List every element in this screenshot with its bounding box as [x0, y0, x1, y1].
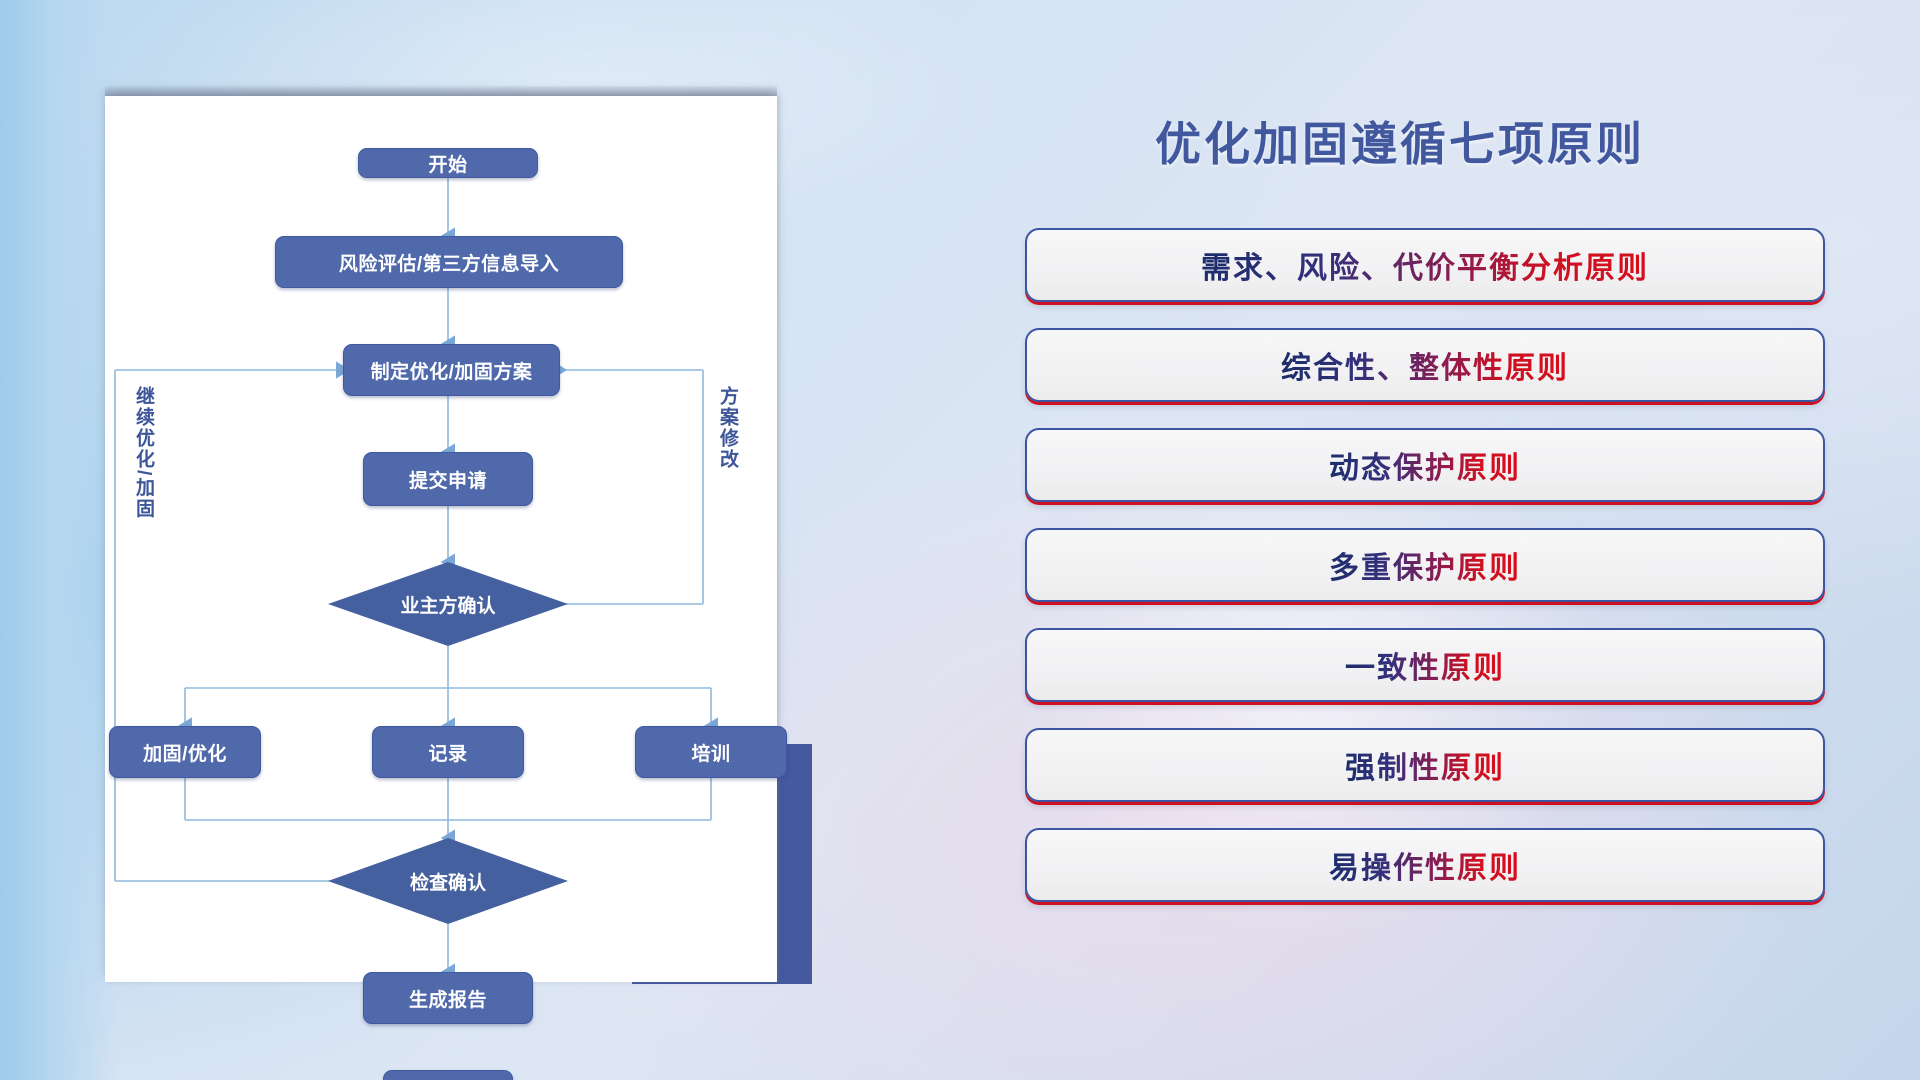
flow-node-submit[interactable]: 提交申请 [363, 452, 533, 506]
flow-edge-label-continue-optimize: 继续优化/加固 [133, 386, 153, 519]
principle-label: 综合性、整体性原则 [1281, 343, 1569, 387]
page-title: 优化加固遵循七项原则 [1155, 108, 1645, 174]
principle-label: 多重保护原则 [1329, 543, 1521, 587]
principle-item-7[interactable]: 易操作性原则 [1025, 828, 1825, 902]
flow-node-start[interactable]: 开始 [358, 148, 538, 178]
principle-item-2[interactable]: 综合性、整体性原则 [1025, 328, 1825, 402]
flow-node-plan[interactable]: 制定优化/加固方案 [343, 344, 560, 396]
principle-item-3[interactable]: 动态保护原则 [1025, 428, 1825, 502]
background-left-band [0, 0, 120, 1080]
principle-item-5[interactable]: 一致性原则 [1025, 628, 1825, 702]
flow-node-risk-assessment[interactable]: 风险评估/第三方信息导入 [275, 236, 623, 288]
principle-label: 需求、风险、代价平衡分析原则 [1201, 243, 1649, 287]
principle-label: 动态保护原则 [1329, 443, 1521, 487]
principles-panel: 优化加固遵循七项原则 需求、风险、代价平衡分析原则 综合性、整体性原则 动态保护… [1000, 0, 1920, 1080]
principle-label: 易操作性原则 [1329, 843, 1521, 887]
flow-edge-label-plan-revision: 方案修改 [717, 386, 737, 470]
principle-item-6[interactable]: 强制性原则 [1025, 728, 1825, 802]
flowchart-card: 开始 风险评估/第三方信息导入 制定优化/加固方案 提交申请 业主方确认 加固/… [105, 96, 777, 982]
principle-item-4[interactable]: 多重保护原则 [1025, 528, 1825, 602]
principle-label: 一致性原则 [1345, 643, 1505, 687]
flow-node-reinforce[interactable]: 加固/优化 [109, 726, 261, 778]
flow-node-generate-report[interactable]: 生成报告 [363, 972, 533, 1024]
principle-item-1[interactable]: 需求、风险、代价平衡分析原则 [1025, 228, 1825, 302]
flow-node-end[interactable]: 结束 [383, 1070, 513, 1080]
flow-node-training[interactable]: 培训 [635, 726, 787, 778]
principles-list: 需求、风险、代价平衡分析原则 综合性、整体性原则 动态保护原则 多重保护原则 一… [1025, 228, 1825, 928]
flow-node-record[interactable]: 记录 [372, 726, 524, 778]
principle-label: 强制性原则 [1345, 743, 1505, 787]
